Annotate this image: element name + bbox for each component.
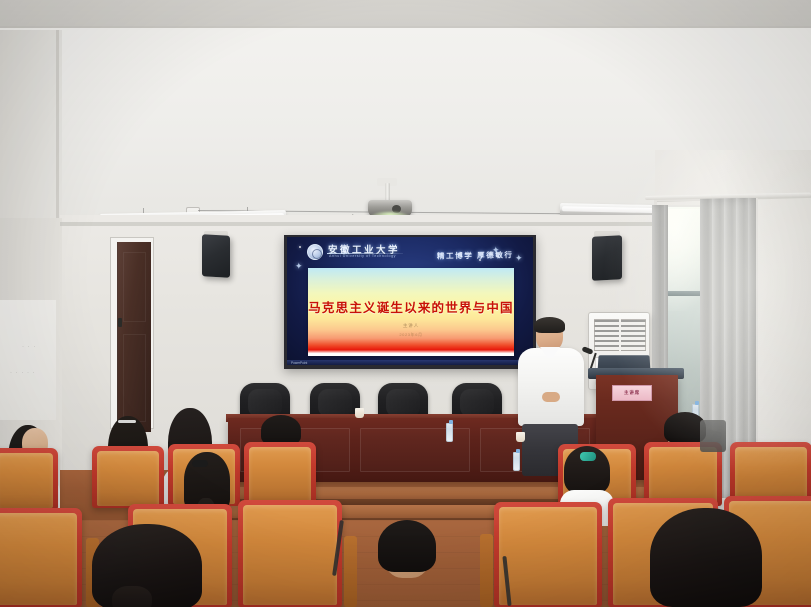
seat-armrest	[344, 536, 357, 607]
whiteboard-writing: · · ·	[22, 344, 36, 350]
podium-nameplate-text: 主讲席	[624, 390, 640, 396]
handbag	[700, 420, 726, 452]
university-motto: 精工博学 厚德敏行	[437, 249, 514, 261]
ponytail	[112, 586, 152, 607]
star-icon: ✦	[295, 261, 303, 272]
star-icon-3: ✦	[515, 253, 523, 264]
door-panel-upper	[123, 252, 146, 322]
cup-on-conf-table	[355, 408, 364, 418]
presenter-hands	[542, 392, 560, 402]
soffit-edge	[56, 30, 59, 220]
presenter-hair	[534, 317, 565, 333]
seat-cushion	[0, 453, 53, 508]
door[interactable]	[117, 242, 151, 432]
university-name-english: Anhui University of Technology	[329, 254, 396, 258]
seat-cushion	[97, 451, 159, 506]
podium-nameplate: 主讲席	[612, 385, 652, 401]
projection-screen: ✦ ✦ ✦ 安徽工业大学 Anhui University of Technol…	[287, 237, 533, 365]
auditorium-seat[interactable]	[238, 500, 342, 607]
hair-clip	[118, 420, 136, 423]
seat-cushion	[0, 513, 77, 605]
cup-on-table	[516, 432, 525, 442]
seat-cushion	[249, 447, 311, 502]
lecture-hall-photo: · · · · · · · · ✦ ✦ ✦ 安徽工业大学 Anhui Unive…	[0, 0, 811, 607]
wall-speaker-left	[202, 234, 230, 277]
auditorium-seat[interactable]	[244, 442, 316, 504]
presenter-shirt	[518, 348, 584, 426]
water-bottle-table	[446, 423, 453, 442]
seat-cushion	[499, 507, 597, 605]
hair-accessory	[192, 460, 208, 467]
slide-content-card: 马克思主义诞生以来的世界与中国 主讲人 2023年6月	[308, 268, 514, 356]
water-bottle-stage	[513, 452, 520, 471]
hair	[378, 520, 436, 572]
air-conditioner-grille-divider	[619, 319, 621, 351]
whiteboard	[0, 300, 56, 420]
auditorium-seat[interactable]	[0, 508, 82, 607]
ceiling-soffit	[0, 30, 62, 220]
seat-cushion	[243, 505, 337, 605]
hair	[650, 508, 762, 607]
star-dot-3	[299, 246, 301, 248]
wall-trim-rail	[60, 222, 660, 226]
conference-table-panel-2	[360, 428, 470, 472]
auditorium-seat[interactable]	[92, 446, 164, 508]
taskbar-label: PowerPoint	[291, 361, 307, 365]
university-logo-icon	[307, 244, 323, 260]
slide-subtitle: 主讲人	[308, 323, 514, 329]
door-panel-lower	[123, 334, 146, 422]
wall-speaker-right	[592, 235, 622, 281]
hair-clip-green	[580, 452, 596, 461]
auditorium-seat[interactable]	[0, 448, 58, 510]
slide-subtitle-secondary: 2023年6月	[308, 332, 514, 338]
seat-cushion	[649, 447, 717, 504]
slide-title: 马克思主义诞生以来的世界与中国	[308, 297, 514, 316]
whiteboard-writing-2: · · · · ·	[10, 370, 36, 376]
door-handle[interactable]	[118, 318, 122, 327]
seat-armrest	[480, 534, 493, 607]
hair	[261, 415, 301, 445]
slide-taskbar: PowerPoint	[287, 360, 533, 365]
